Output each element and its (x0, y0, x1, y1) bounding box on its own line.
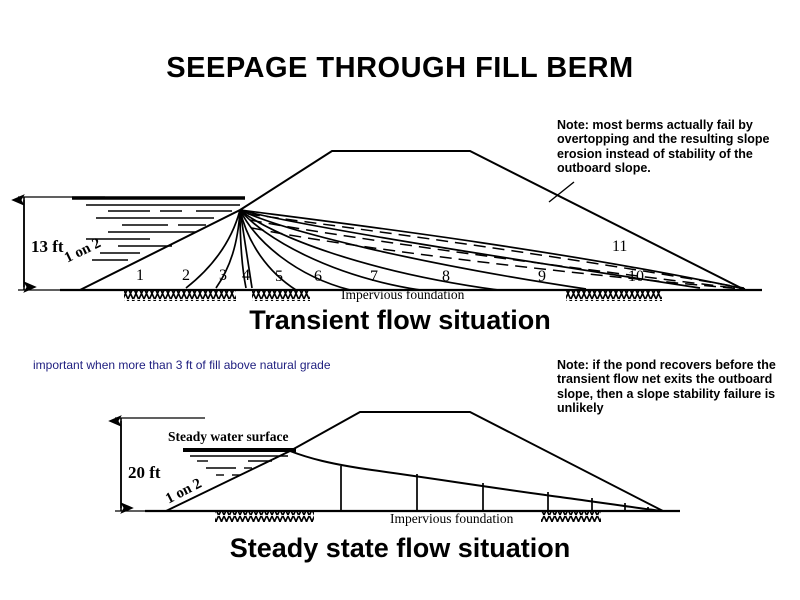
steady-water-surface (183, 450, 296, 475)
svg-text:2: 2 (182, 267, 190, 284)
svg-text:6: 6 (314, 268, 322, 285)
foundation-label-bottom: Impervious foundation (390, 511, 513, 527)
height-label-20ft: 20 ft (128, 463, 161, 483)
note-fill-above-grade: important when more than 3 ft of fill ab… (33, 358, 333, 372)
svg-text:4: 4 (242, 267, 250, 284)
foundation-label-top: Impervious foundation (341, 287, 464, 303)
svg-text:1: 1 (136, 267, 144, 284)
caption-transient: Transient flow situation (0, 305, 800, 336)
svg-text:7: 7 (370, 268, 378, 285)
berm-outline-bottom (166, 412, 663, 511)
svg-text:11: 11 (612, 238, 627, 255)
svg-text:9: 9 (538, 268, 546, 285)
svg-text:3: 3 (219, 267, 227, 284)
svg-text:8: 8 (442, 268, 450, 285)
transient-flow-lines (186, 210, 745, 290)
svg-text:5: 5 (275, 268, 283, 285)
caption-steady-state: Steady state flow situation (0, 533, 800, 564)
height-label-13ft: 13 ft (31, 237, 64, 257)
diagram-canvas: SEEPAGE THROUGH FILL BERM (0, 0, 800, 600)
svg-text:10: 10 (628, 268, 644, 285)
flow-line-labels-top: 1 2 3 4 5 6 7 8 9 10 11 (136, 238, 644, 285)
note-pond-recovery: Note: if the pond recovers before the tr… (557, 358, 797, 416)
steady-water-surface-label: Steady water surface (168, 429, 288, 445)
note-overtopping: Note: most berms actually fail by overto… (557, 118, 797, 176)
